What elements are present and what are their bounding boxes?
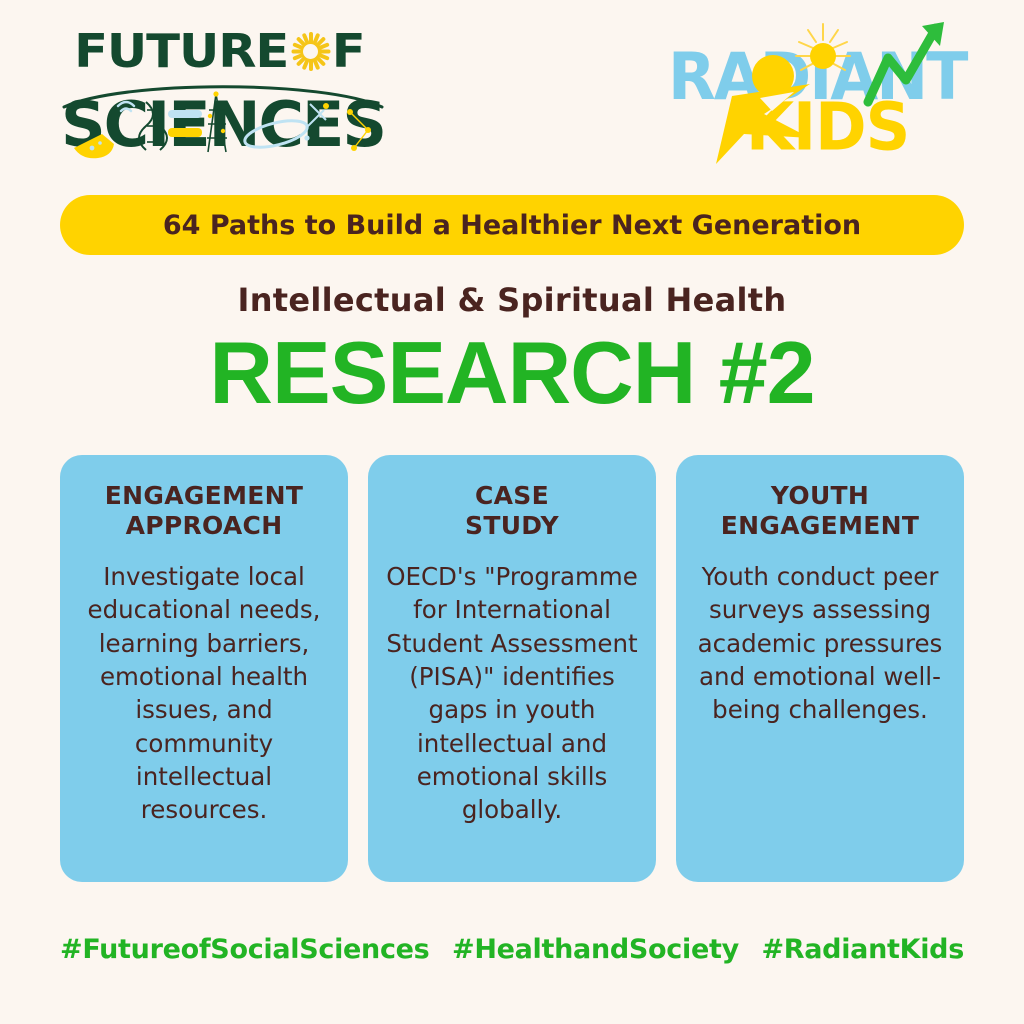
radiant-kids-logo: RADIANT KIDS — [660, 18, 990, 178]
radiant-kids-graphics — [660, 18, 990, 178]
fos-future-text: FUTURE — [74, 28, 288, 74]
hashtag-row: #FutureofSocialSciences #HealthandSociet… — [60, 925, 964, 973]
logo-row: FUTURE — [0, 0, 1024, 185]
future-of-sciences-logo: FUTURE — [58, 24, 388, 174]
card-body: Youth conduct peer surveys assessing aca… — [690, 560, 950, 727]
poster-canvas: FUTURE — [0, 0, 1024, 1024]
banner-pill: 64 Paths to Build a Healthier Next Gener… — [60, 195, 964, 255]
fos-of-group: F — [292, 28, 364, 74]
fos-sciences-text: SCIENCES — [61, 94, 385, 156]
banner-text: 64 Paths to Build a Healthier Next Gener… — [163, 210, 861, 241]
fos-line-one: FUTURE — [58, 28, 388, 74]
hashtag-future-of-social-sciences[interactable]: #FutureofSocialSciences — [60, 934, 429, 965]
card-title: ENGAGEMENT APPROACH — [105, 481, 303, 540]
page-title: RESEARCH #2 — [0, 327, 1024, 419]
card-engagement-approach: ENGAGEMENT APPROACH Investigate local ed… — [60, 455, 348, 882]
hashtag-health-and-society[interactable]: #HealthandSociety — [452, 934, 739, 965]
card-case-study: CASE STUDY OECD's "Programme for Interna… — [368, 455, 656, 882]
card-youth-engagement: YOUTH ENGAGEMENT Youth conduct peer surv… — [676, 455, 964, 882]
card-title: YOUTH ENGAGEMENT — [721, 481, 919, 540]
sunburst-icon — [292, 32, 330, 70]
fos-of-letter: F — [332, 28, 366, 74]
card-body: Investigate local educational needs, lea… — [74, 560, 334, 827]
page-subtitle: Intellectual & Spiritual Health — [0, 281, 1024, 319]
cards-row: ENGAGEMENT APPROACH Investigate local ed… — [60, 455, 964, 882]
fos-line-two: SCIENCES — [58, 86, 388, 164]
hashtag-radiant-kids[interactable]: #RadiantKids — [761, 934, 964, 965]
card-body: OECD's "Programme for International Stud… — [382, 560, 642, 827]
card-title: CASE STUDY — [465, 481, 559, 540]
